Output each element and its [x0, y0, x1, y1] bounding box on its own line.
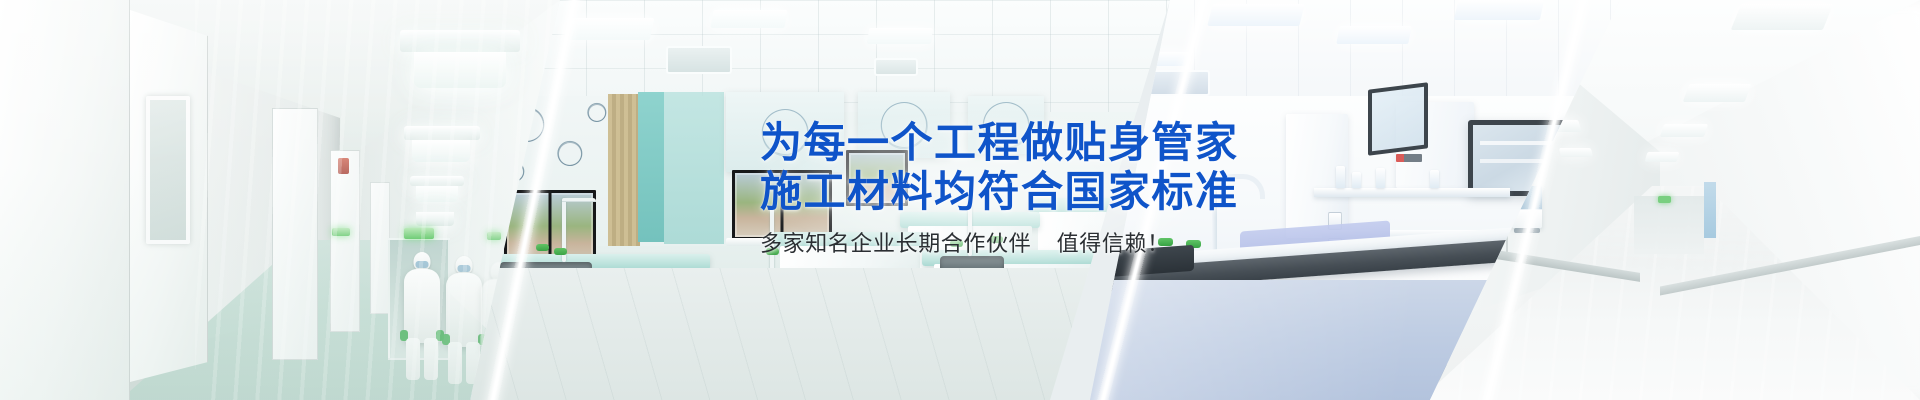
lab-ceiling-light-2 [710, 10, 787, 28]
reagent-bottle-icon [1430, 170, 1439, 188]
sub-headline-part-1: 多家知名企业长期合作伙伴 [760, 231, 1031, 256]
ceiling-ac-unit [1144, 70, 1210, 96]
sub-headline-part-2: 值得信赖！ [1057, 231, 1170, 256]
reagent-bottle-icon [1336, 166, 1345, 188]
recessed-light-4 [1645, 152, 1680, 162]
sub-headline: 多家知名企业长期合作伙伴 值得信赖！ [760, 229, 1190, 259]
lab-ceiling-light-3 [867, 28, 933, 44]
lab-tile-floor [470, 268, 1170, 400]
exit-sign-icon [1658, 196, 1671, 203]
led-panel-light-4 [1454, 0, 1544, 20]
lab-ceiling-light-1 [564, 18, 655, 40]
recessed-light-3 [1660, 124, 1708, 137]
cleanroom-corridor-scene [0, 0, 560, 400]
reagent-bottle-icon [1376, 168, 1385, 188]
reagent-shelf-upper [1314, 188, 1510, 197]
recessed-light-1 [1731, 4, 1834, 30]
recessed-light-7 [1559, 148, 1593, 157]
hero-banner: 为每一个工程做贴身管家 施工材料均符合国家标准 多家知名企业长期合作伙伴 值得信… [0, 0, 1920, 400]
gas-tap-icon [536, 244, 549, 251]
corridor-blue-door [1704, 182, 1716, 238]
gas-tap-icon [554, 248, 567, 255]
cabinet-warning-label [1396, 154, 1422, 162]
headline-line-2: 施工材料均符合国家标准 [760, 167, 1190, 216]
led-panel-light-2 [1336, 26, 1411, 44]
lab-air-vent-secondary [874, 58, 918, 76]
corridor-far-end [1634, 196, 1704, 254]
lab-teal-wall [664, 92, 724, 244]
open-glass-cabinet-door [1368, 82, 1428, 155]
panel-cleanroom-corridor [0, 0, 560, 400]
reagent-bottle-icon [1352, 172, 1361, 188]
banner-copy: 为每一个工程做贴身管家 施工材料均符合国家标准 多家知名企业长期合作伙伴 值得信… [760, 118, 1190, 259]
recessed-light-2 [1683, 84, 1752, 102]
led-panel-light-1 [1207, 4, 1304, 26]
headline-line-1: 为每一个工程做贴身管家 [760, 118, 1190, 167]
lab-teal-column [638, 92, 664, 242]
corridor-light-haze [0, 0, 560, 400]
lab-wood-curtain [608, 94, 640, 246]
lab-air-vent [666, 46, 732, 74]
